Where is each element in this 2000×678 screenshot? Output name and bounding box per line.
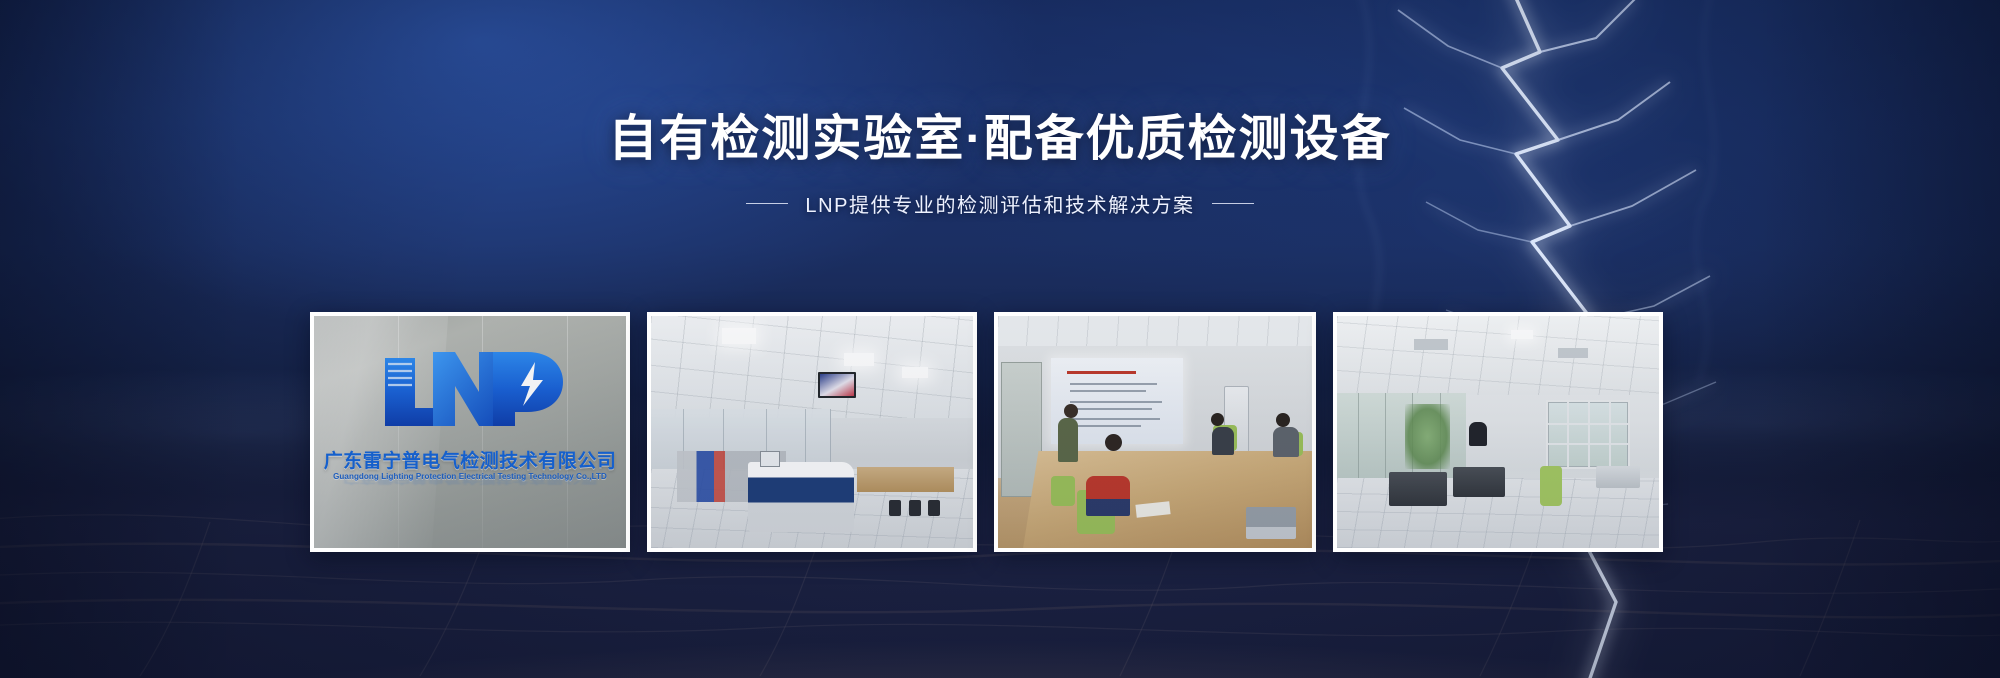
desk-unit [1389, 472, 1447, 506]
hero-text-block: 自有检测实验室·配备优质检测设备 LNP提供专业的检测评估和技术解决方案 [0, 112, 2000, 218]
control-console [748, 462, 854, 532]
ceiling [998, 316, 1312, 346]
photo-card-3[interactable] [994, 312, 1316, 552]
ceiling-light [722, 328, 756, 344]
sign-reflection: 广东雷宁普电气检测技术有限公司 [314, 474, 626, 488]
attendee-person [1086, 476, 1130, 516]
photo-card-2[interactable] [647, 312, 977, 552]
ceiling [1337, 316, 1659, 395]
chair [889, 500, 901, 516]
slide-title-bar [1067, 371, 1136, 374]
lnp-logo-icon [375, 346, 565, 438]
photo-company-lobby-sign: 广东雷宁普电气检测技术有限公司 Guangdong Lighting Prote… [314, 316, 626, 548]
photo-conference-room [998, 316, 1312, 548]
attendee-head [1105, 434, 1122, 451]
chair [1540, 466, 1562, 506]
ceiling-light [844, 353, 874, 366]
sign-company-name-cn: 广东雷宁普电气检测技术有限公司 [314, 446, 626, 473]
chair [909, 500, 921, 516]
hero-banner: 自有检测实验室·配备优质检测设备 LNP提供专业的检测评估和技术解决方案 [0, 0, 2000, 678]
wall-seam [567, 316, 568, 548]
photo-card-1[interactable]: 广东雷宁普电气检测技术有限公司 Guangdong Lighting Prote… [310, 312, 630, 552]
photo-card-4[interactable] [1333, 312, 1663, 552]
presenter-person [1058, 418, 1078, 462]
divider-rule-right [1212, 203, 1254, 204]
divider-rule-left [746, 203, 788, 204]
reception-counter [1596, 466, 1640, 488]
page-subtitle: LNP提供专业的检测评估和技术解决方案 [805, 189, 1194, 218]
workbench-row [857, 467, 954, 493]
presenter-head [1064, 404, 1078, 418]
laptop [1246, 507, 1296, 539]
desk-unit [1453, 467, 1505, 497]
ceiling-light [1511, 330, 1533, 339]
office-worker [1469, 422, 1487, 446]
chair [928, 500, 940, 516]
photo-office-workspace [1337, 316, 1659, 548]
ceiling-vent [1558, 348, 1588, 358]
chair [1051, 476, 1075, 506]
wall-mounted-display [818, 372, 856, 398]
attendee-person [1212, 427, 1234, 455]
console-monitor [760, 451, 780, 467]
photo-gallery-strip: 广东雷宁普电气检测技术有限公司 Guangdong Lighting Prote… [310, 312, 1658, 552]
attendee-person [1273, 427, 1299, 457]
subtitle-row: LNP提供专业的检测评估和技术解决方案 [0, 189, 2000, 218]
page-title: 自有检测实验室·配备优质检测设备 [0, 112, 2000, 167]
ceiling-vent [1414, 339, 1448, 350]
ceiling-light [902, 367, 928, 378]
window [1546, 400, 1630, 470]
photo-test-laboratory [651, 316, 973, 548]
window-foliage [1405, 404, 1450, 469]
